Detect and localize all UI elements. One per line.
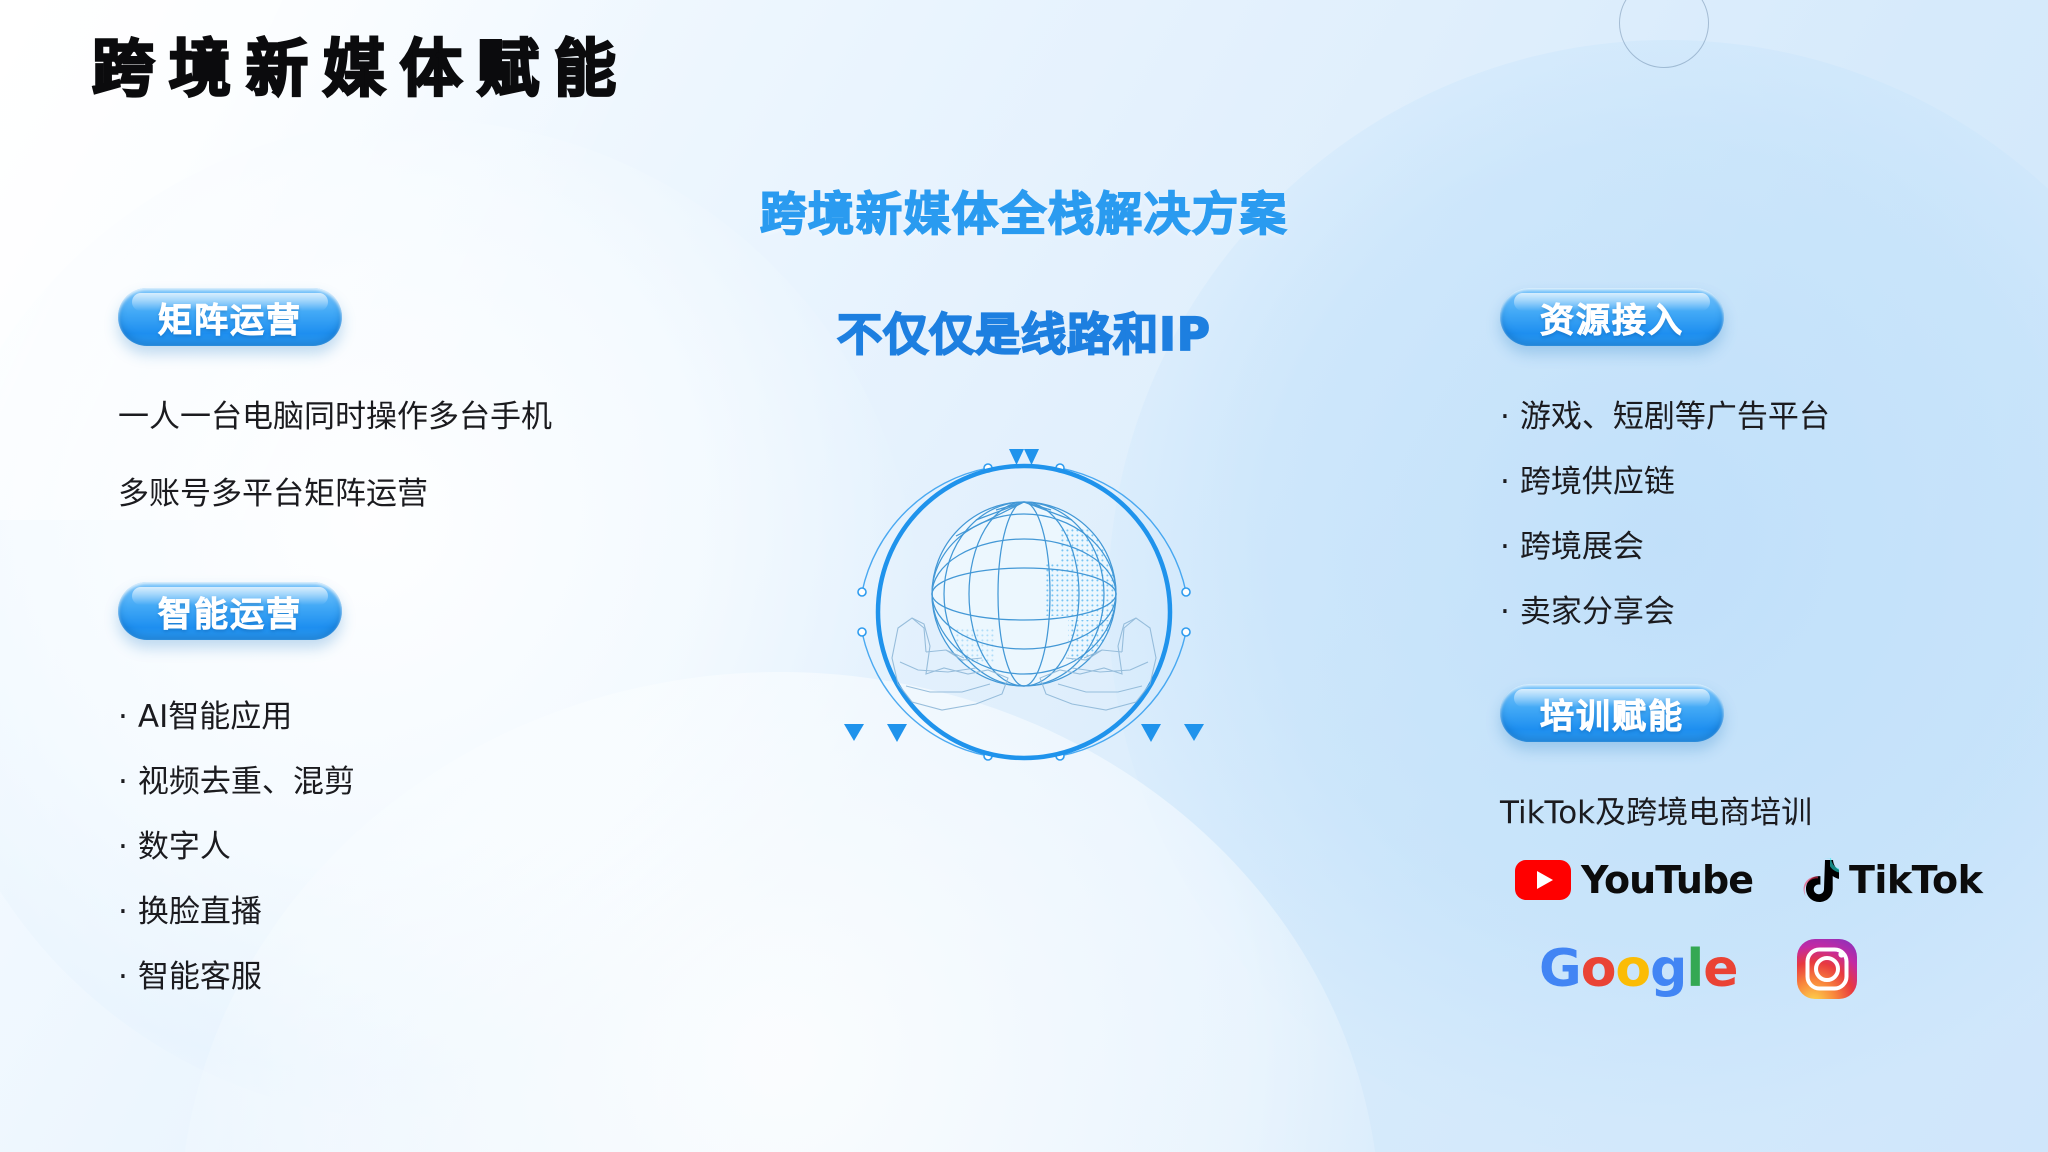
headline: 跨境新媒体全栈解决方案 [0,178,2048,244]
bullet-dot-icon: · [118,702,128,733]
list-item-label: 游戏、短剧等广告平台 [1520,402,1830,433]
badge-training-empowerment[interactable]: 培训赋能 [1500,684,1724,742]
left-section-1-item-4: · 智能客服 [118,962,738,993]
badge-smart-operations[interactable]: 智能运营 [118,582,342,640]
list-item-label: 换脸直播 [138,897,262,928]
left-section-0-item-1: 多账号多平台矩阵运营 [118,479,738,510]
tiktok-wordmark: TikTok [1849,858,1982,902]
page-title: 跨境新媒体赋能 [92,38,631,100]
list-item-label: 跨境供应链 [1520,467,1675,498]
logo-row-1: YouTube TikTok [1515,858,2015,902]
badge-resource-access[interactable]: 资源接入 [1500,288,1724,346]
bullet-dot-icon: · [118,767,128,798]
right-section-1-item-0: TikTok及跨境电商培训 [1500,798,2020,829]
left-section-1-item-1: · 视频去重、混剪 [118,767,738,798]
list-item-label: 跨境展会 [1520,532,1644,563]
right-section-0-item-0: · 游戏、短剧等广告平台 [1500,402,2020,433]
right-column: 资源接入 · 游戏、短剧等广告平台 · 跨境供应链 · 跨境展会 · 卖家分享会… [1500,288,2020,829]
bullet-dot-icon: · [118,897,128,928]
decorative-circle-icon [1619,0,1709,68]
bullet-dot-icon: · [1500,467,1510,498]
brand-logo-group: YouTube TikTok Google [1515,858,2015,1000]
left-section-1-item-2: · 数字人 [118,832,738,863]
right-section-0-item-2: · 跨境展会 [1500,532,2020,563]
list-item-label: 视频去重、混剪 [138,767,355,798]
youtube-wordmark: YouTube [1581,858,1753,902]
logo-google[interactable]: Google [1539,939,1738,999]
google-wordmark: Google [1539,939,1738,999]
list-item-label: 智能客服 [138,962,262,993]
bullet-dot-icon: · [118,962,128,993]
bullet-dot-icon: · [118,832,128,863]
list-item-label: 数字人 [138,832,231,863]
logo-youtube[interactable]: YouTube [1515,858,1753,902]
list-item-label: AI智能应用 [138,702,292,733]
left-section-1-item-3: · 换脸直播 [118,897,738,928]
slide-canvas: 跨境新媒体赋能 跨境新媒体全栈解决方案 不仅仅是线路和IP [0,0,2048,1152]
left-column: 矩阵运营 一人一台电脑同时操作多台手机 多账号多平台矩阵运营 智能运营 · AI… [118,288,738,993]
tiktok-note-icon [1799,858,1839,902]
badge-matrix-operations[interactable]: 矩阵运营 [118,288,342,346]
right-section-0-item-3: · 卖家分享会 [1500,597,2020,628]
logo-tiktok[interactable]: TikTok [1799,858,1982,902]
wireframe-globe-icon [836,424,1212,800]
bullet-dot-icon: · [1500,532,1510,563]
youtube-play-icon [1515,860,1571,900]
list-item-label: 卖家分享会 [1520,597,1675,628]
bullet-dot-icon: · [1500,402,1510,433]
bullet-dot-icon: · [1500,597,1510,628]
logo-row-2: Google [1515,938,2015,1000]
left-section-0-item-0: 一人一台电脑同时操作多台手机 [118,402,738,433]
globe-illustration [836,424,1212,800]
instagram-camera-icon [1796,938,1858,1000]
logo-instagram[interactable] [1796,938,1858,1000]
left-section-1-item-0: · AI智能应用 [118,702,738,733]
right-section-0-item-1: · 跨境供应链 [1500,467,2020,498]
